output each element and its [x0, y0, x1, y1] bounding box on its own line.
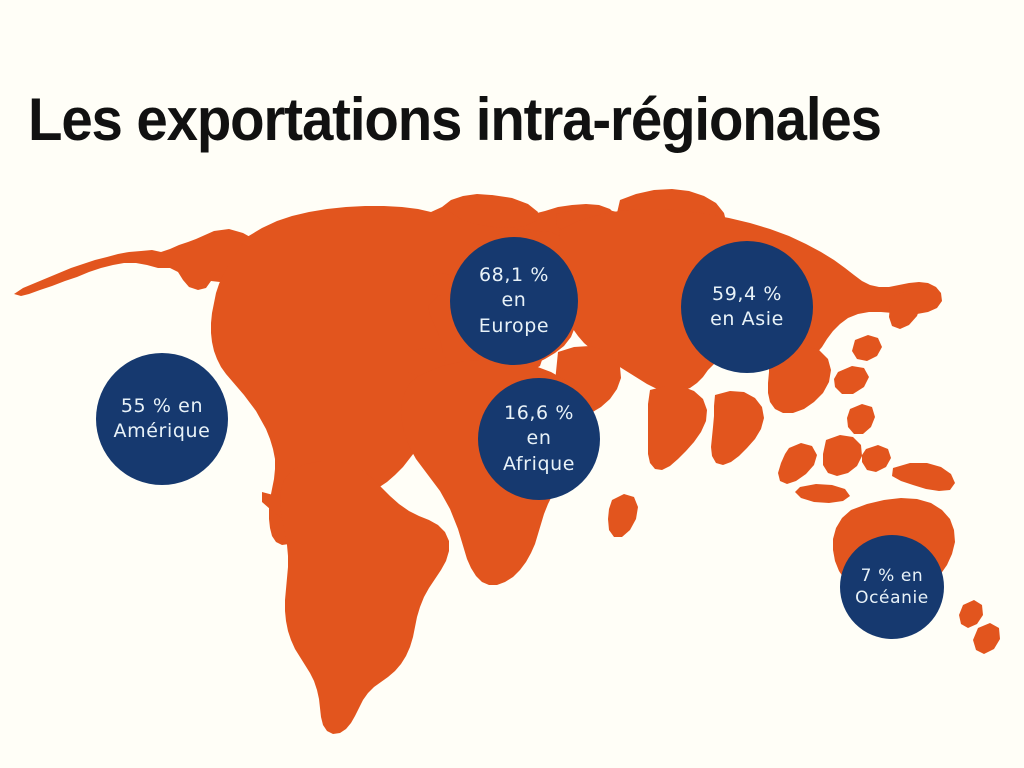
- land-india: [648, 386, 707, 470]
- land-new-guinea: [892, 463, 955, 491]
- land-sulawesi: [862, 445, 891, 472]
- bubble-europe-line3: Europe: [479, 315, 549, 337]
- bubble-afrique-line2: en: [527, 427, 552, 449]
- bubble-afrique-label: 16,6 %enAfrique: [497, 401, 581, 476]
- bubble-asie-label: 59,4 %en Asie: [704, 282, 790, 332]
- bubble-afrique[interactable]: 16,6 %enAfrique: [478, 378, 600, 500]
- bubble-amerique-line1: 55 % en: [121, 395, 203, 417]
- bubble-afrique-line3: Afrique: [503, 453, 575, 475]
- land-madagascar: [608, 494, 638, 537]
- bubble-amerique[interactable]: 55 % enAmérique: [96, 353, 228, 485]
- land-japan-north: [852, 335, 882, 361]
- bubble-amerique-label: 55 % enAmérique: [108, 394, 217, 444]
- land-new-zealand-north: [959, 600, 983, 628]
- bubble-europe-line1: 68,1 %: [479, 264, 549, 286]
- land-philippines: [847, 404, 875, 434]
- land-new-zealand-south: [973, 623, 1000, 654]
- land-southeast-asia: [711, 391, 764, 465]
- bubble-europe[interactable]: 68,1 %enEurope: [450, 237, 578, 365]
- bubble-asie[interactable]: 59,4 %en Asie: [681, 241, 813, 373]
- land-south-america: [280, 461, 449, 734]
- land-java: [795, 484, 850, 503]
- bubble-afrique-line1: 16,6 %: [504, 402, 574, 424]
- bubble-oceanie[interactable]: 7 % enOcéanie: [840, 535, 944, 639]
- land-sumatra: [778, 443, 817, 484]
- land-japan-south: [834, 366, 869, 394]
- page-title: Les exportations intra-régionales: [28, 88, 881, 151]
- land-borneo: [823, 435, 862, 476]
- bubble-oceanie-label: 7 % enOcéanie: [849, 565, 935, 610]
- bubble-amerique-line2: Amérique: [114, 420, 211, 442]
- bubble-asie-line1: 59,4 %: [712, 283, 782, 305]
- infographic-canvas: Les exportations intra-régionales 55 % e…: [0, 0, 1024, 768]
- bubble-oceanie-line2: Océanie: [855, 588, 929, 608]
- bubble-europe-label: 68,1 %enEurope: [473, 263, 555, 338]
- bubble-europe-line2: en: [502, 289, 527, 311]
- bubble-asie-line2: en Asie: [710, 308, 784, 330]
- bubble-oceanie-line1: 7 % en: [861, 566, 924, 586]
